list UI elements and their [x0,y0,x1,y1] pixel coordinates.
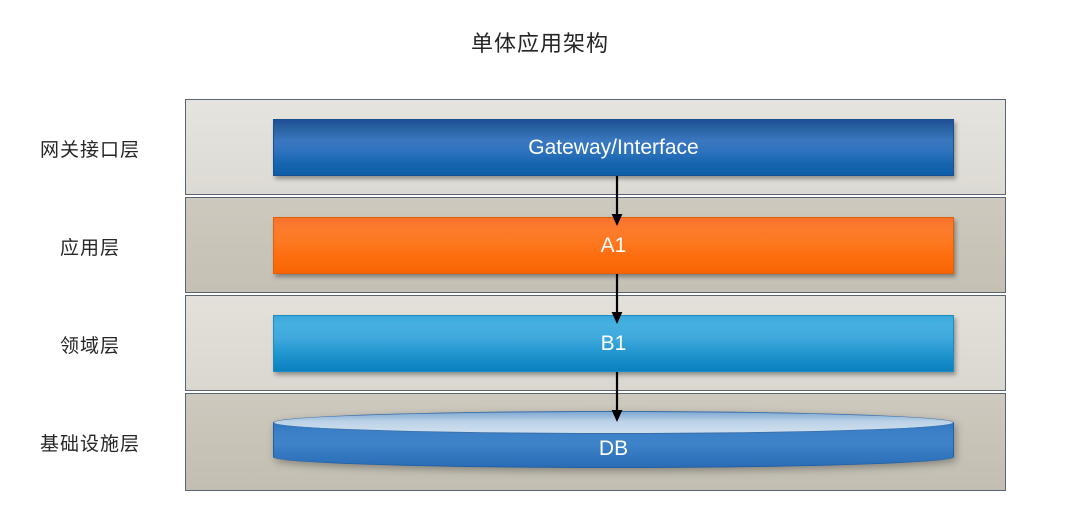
layer-label-gateway: 网关接口层 [0,100,180,197]
arrow-gateway-to-a1 [610,176,624,226]
layer-label-infrastructure: 基础设施层 [0,394,180,491]
component-gateway-interface[interactable]: Gateway/Interface [273,119,954,176]
db-label: DB [273,431,954,467]
layer-stack: Gateway/Interface A1 B1 DB [185,99,1008,491]
layer-label-column: 网关接口层 应用层 领域层 基础设施层 [0,100,180,490]
layer-label-domain: 领域层 [0,296,180,393]
arrow-a1-to-b1 [610,274,624,324]
layer-label-application: 应用层 [0,198,180,295]
architecture-diagram-page: { "title": "单体应用架构", "layers": [ { "labe… [0,0,1080,532]
layer-band-infrastructure: DB [185,393,1006,491]
arrow-b1-to-db [610,372,624,422]
layer-band-domain: B1 [185,295,1006,391]
layer-band-application: A1 [185,197,1006,293]
page-title: 单体应用架构 [0,26,1080,58]
layer-band-gateway: Gateway/Interface [185,99,1006,195]
